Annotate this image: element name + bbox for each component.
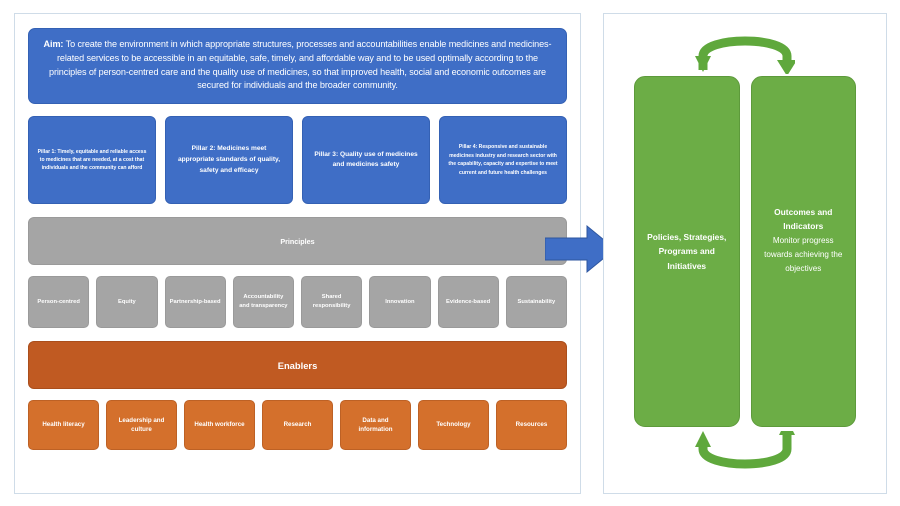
- enablers-band: Enablers: [28, 341, 567, 389]
- pillar-1-box: Pillar 1: Timely, equitable and reliable…: [28, 116, 156, 204]
- pillar-3-box: Pillar 3: Quality use of medicines and m…: [302, 116, 430, 204]
- cycle-panel: Policies, Strategies, Programs and Initi…: [603, 13, 887, 494]
- pillar-2-box: Pillar 2: Medicines meet appropriate sta…: [165, 116, 293, 204]
- enabler-chip-health-literacy: Health literacy: [28, 400, 99, 450]
- cycle-columns: Policies, Strategies, Programs and Initi…: [634, 76, 856, 427]
- enablers-row: Health literacy Leadership and culture H…: [28, 400, 567, 450]
- enabler-label: Health workforce: [194, 420, 244, 430]
- principle-label: Sustainability: [518, 298, 556, 307]
- principle-label: Partnership-based: [170, 298, 221, 307]
- pillar-4-text: Pillar 4: Responsive and sustainable med…: [447, 143, 559, 177]
- pillar-2-text: Pillar 2: Medicines meet appropriate sta…: [173, 144, 285, 176]
- outcomes-subtext: Monitor progress towards achieving the o…: [759, 234, 849, 276]
- aim-statement-box: Aim: To create the environment in which …: [28, 28, 567, 104]
- aim-text: To create the environment in which appro…: [49, 39, 551, 90]
- policies-heading: Policies, Strategies, Programs and Initi…: [642, 230, 732, 273]
- outcomes-column: Outcomes and Indicators Monitor progress…: [751, 76, 857, 427]
- principles-row: Person-centred Equity Partnership-based …: [28, 276, 567, 328]
- pillars-row: Pillar 1: Timely, equitable and reliable…: [28, 116, 567, 204]
- principle-label: Equity: [118, 298, 136, 307]
- enabler-chip-data-and-information: Data and information: [340, 400, 411, 450]
- cycle-arrow-counterclockwise-icon: [695, 431, 795, 479]
- principles-band-label: Principles: [280, 237, 314, 246]
- principle-chip-evidence-based: Evidence-based: [438, 276, 499, 328]
- enabler-label: Leadership and culture: [111, 416, 172, 435]
- enabler-chip-health-workforce: Health workforce: [184, 400, 255, 450]
- enabler-chip-technology: Technology: [418, 400, 489, 450]
- principle-chip-shared-responsibility: Shared responsibility: [301, 276, 362, 328]
- principle-chip-equity: Equity: [96, 276, 157, 328]
- principle-chip-person-centred: Person-centred: [28, 276, 89, 328]
- principle-label: Accountability and transparency: [238, 293, 289, 311]
- pillar-1-text: Pillar 1: Timely, equitable and reliable…: [36, 148, 148, 173]
- enabler-label: Resources: [516, 420, 548, 430]
- pillar-4-box: Pillar 4: Responsive and sustainable med…: [439, 116, 567, 204]
- principle-chip-partnership-based: Partnership-based: [165, 276, 226, 328]
- principle-chip-sustainability: Sustainability: [506, 276, 567, 328]
- enabler-label: Health literacy: [42, 420, 84, 430]
- enabler-chip-research: Research: [262, 400, 333, 450]
- enabler-chip-resources: Resources: [496, 400, 567, 450]
- principle-label: Innovation: [385, 298, 414, 307]
- cycle-arrow-bottom: [695, 431, 795, 479]
- enabler-label: Technology: [436, 420, 470, 430]
- enabler-chip-leadership-and-culture: Leadership and culture: [106, 400, 177, 450]
- outcomes-heading: Outcomes and Indicators: [759, 205, 849, 234]
- enabler-label: Research: [284, 420, 312, 430]
- principle-chip-accountability-and-transparency: Accountability and transparency: [233, 276, 294, 328]
- principle-label: Person-centred: [37, 298, 80, 307]
- aim-label: Aim:: [44, 39, 64, 49]
- cycle-arrow-clockwise-icon: [695, 26, 795, 74]
- diagram-canvas: Aim: To create the environment in which …: [0, 0, 900, 506]
- principle-label: Shared responsibility: [306, 293, 357, 311]
- principles-band: Principles: [28, 217, 567, 265]
- policies-column: Policies, Strategies, Programs and Initi…: [634, 76, 740, 427]
- framework-panel: Aim: To create the environment in which …: [14, 13, 581, 494]
- cycle-arrow-top: [695, 26, 795, 74]
- principle-label: Evidence-based: [446, 298, 490, 307]
- enabler-label: Data and information: [345, 416, 406, 435]
- principle-chip-innovation: Innovation: [369, 276, 430, 328]
- pillar-3-text: Pillar 3: Quality use of medicines and m…: [310, 150, 422, 171]
- enablers-band-label: Enablers: [278, 360, 318, 371]
